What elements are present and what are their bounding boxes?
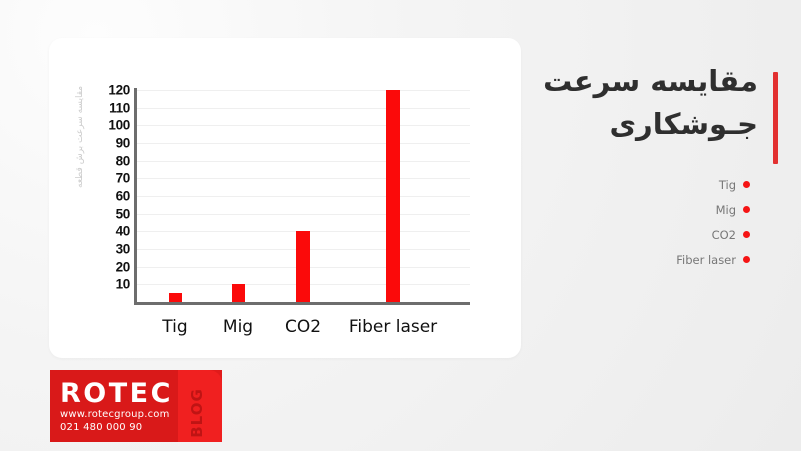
legend-label: Tig: [719, 178, 736, 192]
legend-item-mig[interactable]: Mig: [540, 197, 750, 222]
rotec-logo[interactable]: ROTEC www.rotecgroup.com 021 480 000 90 …: [50, 370, 222, 442]
gridline: [137, 196, 470, 197]
y-tick-label: 70: [116, 172, 130, 186]
legend-dot-icon: [743, 206, 750, 213]
bar-co2[interactable]: [296, 231, 310, 302]
y-tick-label: 90: [116, 136, 130, 150]
y-tick-label: 60: [116, 189, 130, 203]
logo-brand-text: ROTEC: [60, 379, 178, 408]
page-title-line-2: جـوشکاری: [540, 103, 758, 146]
logo-body: ROTEC www.rotecgroup.com 021 480 000 90: [50, 370, 178, 442]
legend-dot-icon: [743, 256, 750, 263]
legend-dot-icon: [743, 181, 750, 188]
legend-label: CO2: [712, 228, 736, 242]
legend-item-co2[interactable]: CO2: [540, 222, 750, 247]
plot-area: 102030405060708090100110120 TigMigCO2Fib…: [137, 90, 470, 302]
title-accent-bar: [773, 72, 778, 164]
x-tick-label: Mig: [223, 317, 253, 337]
chart-card: مقایسه سرعت برش قطعه 1020304050607080901…: [49, 38, 521, 358]
y-tick-label: 100: [108, 119, 130, 133]
bar-fiber-laser[interactable]: [386, 90, 400, 302]
legend-item-fiber-laser[interactable]: Fiber laser: [540, 247, 750, 272]
x-tick-label: CO2: [285, 317, 321, 337]
bar-tig[interactable]: [169, 293, 182, 302]
gridline: [137, 108, 470, 109]
bar-mig[interactable]: [232, 284, 245, 302]
legend-dot-icon: [743, 231, 750, 238]
logo-phone: 021 480 000 90: [60, 421, 178, 434]
gridline: [137, 143, 470, 144]
logo-blog-label: BLOG: [186, 374, 212, 440]
legend-item-tig[interactable]: Tig: [540, 172, 750, 197]
y-axis-title: مقایسه سرعت برش قطعه: [75, 86, 85, 188]
gridline: [137, 161, 470, 162]
chart-legend: TigMigCO2Fiber laser: [540, 172, 780, 272]
x-tick-label: Tig: [162, 317, 187, 337]
x-axis-line: [134, 302, 470, 305]
y-tick-label: 30: [116, 242, 130, 256]
gridline: [137, 178, 470, 179]
y-tick-label: 40: [116, 225, 130, 239]
y-tick-label: 110: [109, 101, 130, 115]
y-tick-label: 20: [116, 260, 130, 274]
legend-label: Mig: [716, 203, 736, 217]
x-tick-label: Fiber laser: [349, 317, 437, 337]
gridline: [137, 90, 470, 91]
title-block: مقایسه سرعت جـوشکاری: [540, 60, 780, 146]
logo-blog-text: BLOG: [188, 388, 206, 438]
y-tick-label: 10: [116, 278, 130, 292]
legend-label: Fiber laser: [676, 253, 736, 267]
gridline: [137, 214, 470, 215]
gridline: [137, 125, 470, 126]
logo-website[interactable]: www.rotecgroup.com: [60, 408, 178, 421]
y-tick-label: 120: [108, 83, 130, 97]
right-panel: مقایسه سرعت جـوشکاری TigMigCO2Fiber lase…: [540, 60, 780, 300]
page-title-line-1: مقایسه سرعت: [540, 60, 758, 103]
y-tick-label: 80: [116, 154, 130, 168]
y-tick-label: 50: [116, 207, 130, 221]
